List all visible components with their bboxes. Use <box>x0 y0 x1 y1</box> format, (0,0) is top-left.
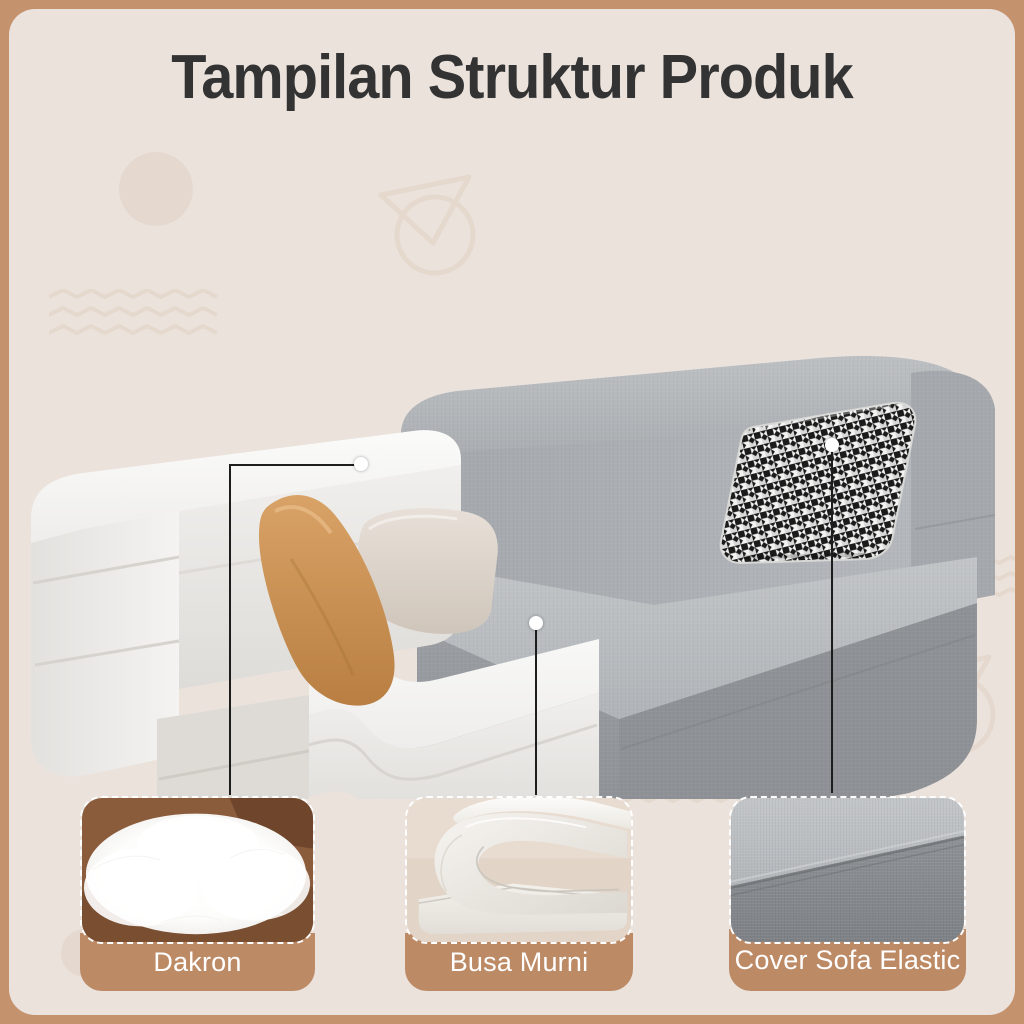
material-card-dakron[interactable]: Dakron <box>80 796 315 991</box>
material-card-cover-sofa-elastic[interactable]: Cover Sofa Elastic <box>729 796 966 991</box>
thumbnail-polyester-fiber-fill <box>80 796 315 944</box>
leader-line-vertical <box>831 445 833 793</box>
product-photo <box>9 159 1015 799</box>
thumbnail-folded-foam-block <box>405 796 633 944</box>
infographic-root: Tampilan Struktur Produk <box>0 0 1024 1024</box>
callout-marker-cover-sofa-elastic[interactable] <box>825 438 839 452</box>
material-card-busa-murni[interactable]: Busa Murni <box>405 796 633 991</box>
leader-line-vertical <box>535 623 537 795</box>
callout-marker-dakron[interactable] <box>354 457 368 471</box>
inner-canvas: Tampilan Struktur Produk <box>9 9 1015 1015</box>
callout-marker-busa-murni[interactable] <box>529 616 543 630</box>
page-title: Tampilan Struktur Produk <box>44 45 980 110</box>
leader-line-horizontal <box>229 464 363 466</box>
thumbnail-gray-woven-fabric <box>729 796 966 944</box>
leader-line-vertical <box>229 464 231 795</box>
